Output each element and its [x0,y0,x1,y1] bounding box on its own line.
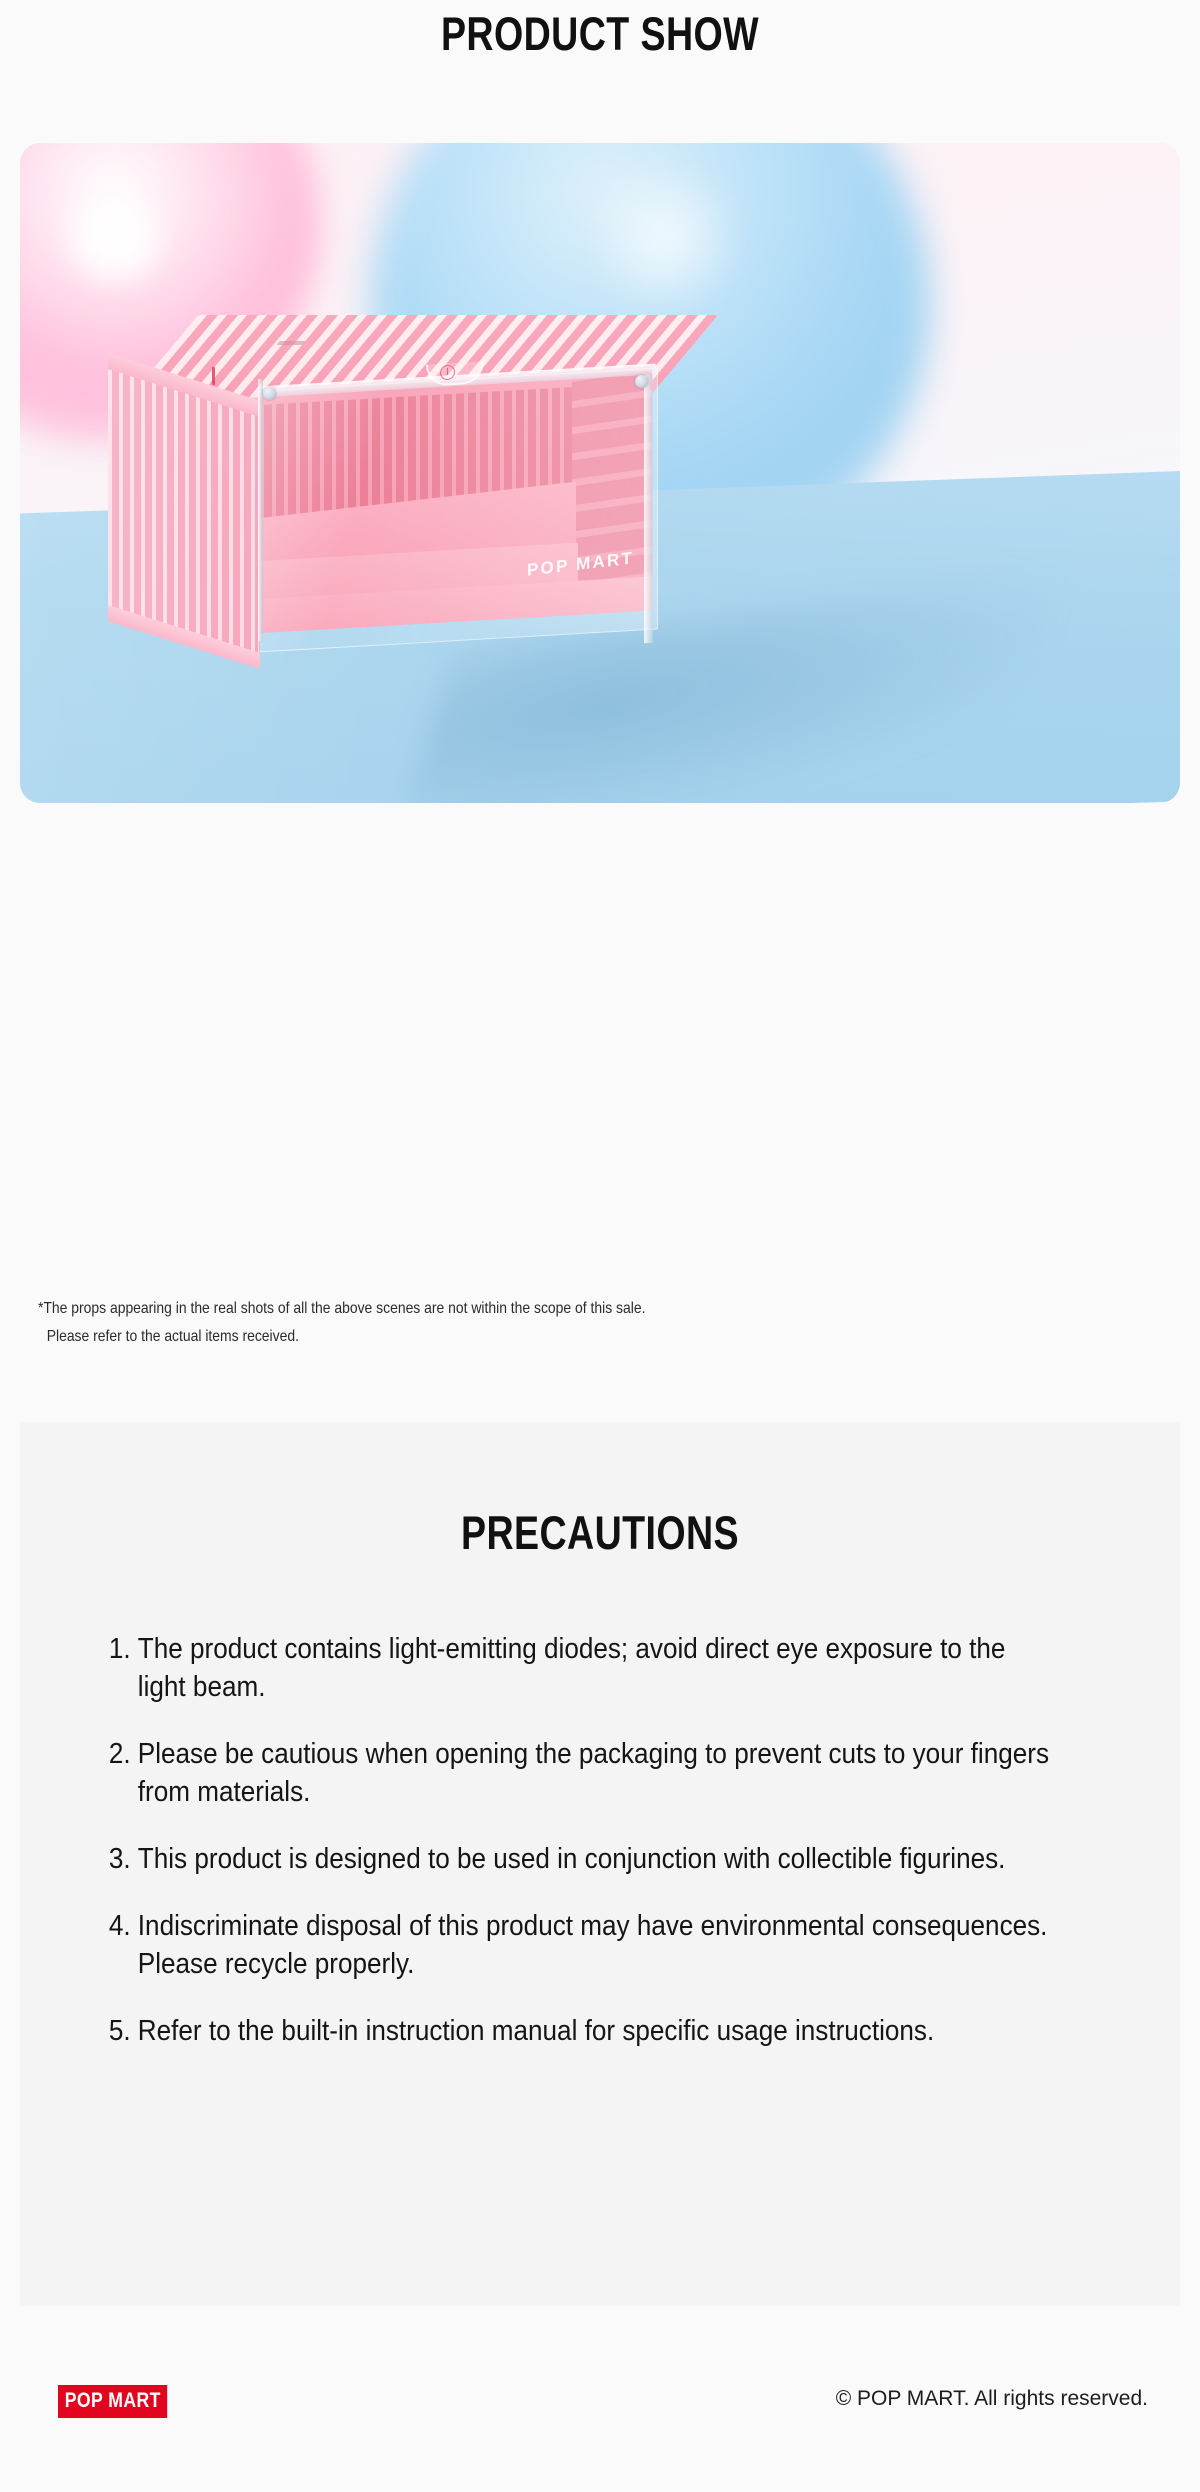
container-display-case: POP MART [108,315,670,645]
list-item-text: Refer to the built-in instruction manual… [138,2015,934,2047]
list-item-number: 2. [100,1735,131,1773]
blue-sphere-highlight [580,163,750,313]
pink-sphere-highlight [60,185,170,290]
list-item: 5. Refer to the built-in instruction man… [100,2012,1054,2050]
list-item-number: 4. [100,1907,131,1945]
precautions-list: 1. The product contains light-emitting d… [100,1630,1160,2079]
door-left-edge [258,379,263,641]
disclaimer-line-1: *The props appearing in the real shots o… [38,1295,978,1323]
list-item: 1. The product contains light-emitting d… [100,1630,1054,1706]
left-panel-red-marker [212,367,215,386]
door-right-edge [644,375,653,644]
door-hinge-right-icon [635,375,648,388]
list-item-number: 3. [100,1840,131,1878]
photo-disclaimer: *The props appearing in the real shots o… [38,1295,978,1351]
disclaimer-line-2: Please refer to the actual items receive… [38,1323,978,1351]
door-hinge-left-icon [263,387,276,400]
list-item-text: Indiscriminate disposal of this product … [138,1910,1048,1980]
list-item-number: 1. [100,1630,131,1668]
popmart-logo[interactable]: POP MART [58,2385,168,2418]
product-show-heading: PRODUCT SHOW [120,6,1080,62]
list-item: 3. This product is designed to be used i… [100,1840,1054,1878]
acrylic-door-panel [258,367,658,652]
list-item: 4. Indiscriminate disposal of this produ… [100,1907,1054,1983]
list-item-number: 5. [100,2012,131,2050]
product-photo: POP MART [20,143,1180,803]
list-item: 2. Please be cautious when opening the p… [100,1735,1054,1811]
list-item-text: Please be cautious when opening the pack… [138,1738,1049,1808]
list-item-text: The product contains light-emitting diod… [138,1633,1006,1703]
copyright-text: © POP MART. All rights reserved. [836,2386,1148,2412]
precautions-heading: PRECAUTIONS [120,1505,1080,1561]
lid-label-sticker [276,341,305,345]
product-detail-page: PRODUCT SHOW [0,0,1200,2492]
case-left-panel [108,353,260,669]
list-item-text: This product is designed to be used in c… [138,1843,1006,1875]
